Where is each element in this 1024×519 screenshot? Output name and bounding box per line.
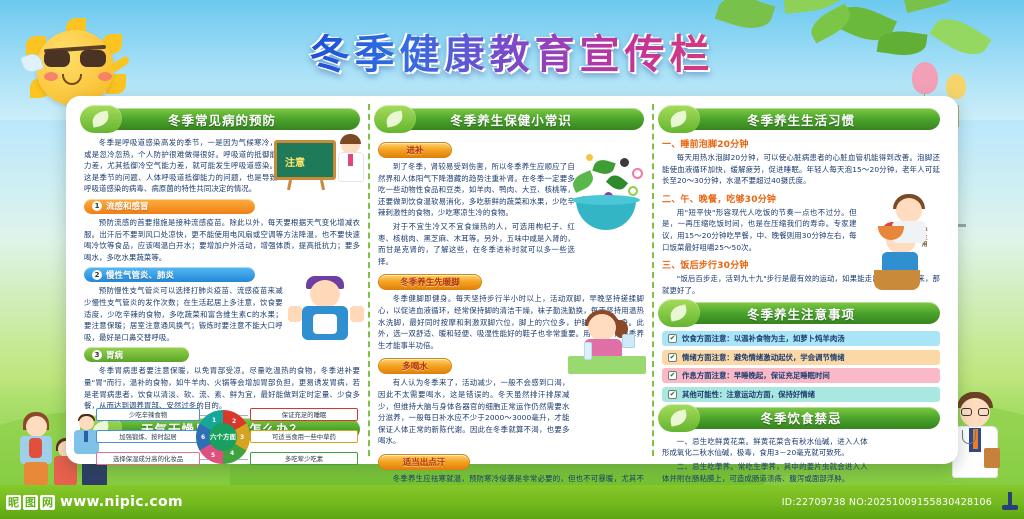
subsection-header-sweat: 适当出点汗 (378, 454, 470, 470)
subsection-text-bronchitis: 预防慢性支气管炎可以选择打肺炎疫苗、流感疫苗来减少慢性支气管炎的发作次数；在生活… (84, 285, 283, 343)
subsection-text-flu: 预防流感的首要措施是接种流感疫苗。除此以外，每天要根据天气变化增减衣服。出汗后不… (84, 217, 360, 263)
drinking-water-girl-illustration (564, 312, 650, 376)
leaf-icon (374, 105, 416, 133)
lung-patient-illustration (286, 276, 366, 348)
content-board: 冬季常见病的预防 注意 冬季是呼吸道感染高发的季节，一是因为气候寒冷，或是忽冷忽… (66, 96, 958, 464)
subsection-header-tonic: 进补 (378, 142, 452, 158)
leaf-icon (658, 105, 700, 133)
diagram-right-item-3: 多吃荤少吃素 (250, 452, 358, 465)
caution-row-diet: ✔ 饮食方面注意：以温补食物为主，如萝卜炖羊肉汤 (662, 331, 940, 346)
leaf-icon (658, 404, 700, 432)
salad-bowl-illustration (564, 152, 648, 238)
section-banner-habits: 冬季养生生活习惯 (662, 108, 940, 130)
watermark-url: www.nipic.com (60, 494, 183, 510)
check-icon[interactable]: ✔ (668, 353, 677, 362)
leaf-icon (658, 299, 700, 327)
tonic-paragraph-2: 对于不宜生冷又不宜食燥热的人，可选用枸杞子、红枣、核桃肉、黑芝麻、木耳等。另外，… (378, 221, 575, 267)
diagram-center-label: 六个方面 (209, 423, 237, 451)
page-title: 冬季健康教育宣传栏 (310, 22, 715, 80)
habit-text-2: 用"短平快"形容现代人吃饭的节奏一点也不过分。但是，一再压缩吃饭时间，也是在压缩… (662, 207, 857, 253)
nipic-logo: 昵 图 网 (6, 495, 55, 510)
column-lifestyle-habits: 冬季养生生活习惯 一、睡前泡脚20分钟 每天用热水泡脚20分钟，可以使心脏病患者… (654, 104, 948, 456)
stethoscope-icon (962, 430, 976, 444)
habit-text-1: 每天用热水泡脚20分钟，可以使心脏病患者的心脏血管机能得到改善。泡脚还能使血液循… (662, 152, 940, 187)
caution-row-other: ✔ 其他可能性：注意运动方面，保持好情绪 (662, 387, 940, 402)
eating-girl-illustration (874, 196, 946, 256)
subsection-header-drink-water: 多喝水 (378, 358, 452, 374)
diagram-right-item-1: 保证充足的睡眠 (250, 408, 358, 421)
glasses-icon (961, 408, 989, 416)
section-banner-1: 冬季常见病的预防 (84, 108, 360, 130)
check-icon[interactable]: ✔ (668, 334, 677, 343)
column-health-tips: 冬季养生保健小常识 进补 到了冬季，肾较易受到伤害，所以冬季养生应顺应了自然界和… (368, 104, 654, 456)
watermark-brand: 昵 图 网 www.nipic.com (6, 494, 183, 510)
section-banner-health-tips: 冬季养生保健小常识 (378, 108, 644, 130)
caution-row-rest: ✔ 作息方面注意：早睡晚起，保证充足睡眠时间 (662, 368, 940, 383)
doctor-blackboard-illustration: 注意 (274, 130, 366, 200)
taboo-item-2: 二、忌生吃荸荠。常吃生荸荠，其中的姜片虫就会进入人体并附在肠粘膜上，可造成肠道溃… (662, 461, 868, 484)
doctor-figure (336, 134, 366, 190)
poster-canvas: 冬季健康教育宣传栏 冬季常见病的预防 注意 冬季是呼吸道感染高发的季节，一是因为… (0, 0, 1024, 519)
leaf-icon (80, 105, 122, 133)
tonic-paragraph-1: 到了冬季，肾较易受到伤害，所以冬季养生应顺应了自然界和人体阳气下降潜藏的趋势注重… (378, 161, 575, 219)
section-banner-cautions: 冬季养生注意事项 (662, 302, 940, 324)
chalkboard: 注意 (274, 140, 336, 180)
taboo-item-1: 一、忌生吃鲜黄花菜。鲜黄花菜含有秋水仙碱，进入人体形成氧化二秋水仙碱，极毒，食用… (662, 436, 868, 459)
watermark-stamp-icon (1002, 492, 1018, 512)
mother-figure (18, 412, 54, 486)
poster-title-wrap: 冬季健康教育宣传栏 (0, 22, 1024, 80)
drink-water-paragraph: 有人认为冬季来了，活动减少，一般不会感到口渴，因此不太需要喝水，这是错误的。冬天… (378, 377, 570, 447)
diagram-left-item-2: 加强锻炼、按时起居 (96, 430, 200, 443)
clipboard-icon (984, 448, 1000, 468)
habit-heading-1: 一、睡前泡脚20分钟 (662, 137, 940, 150)
subsection-header-warm-feet: 冬季养生先暖脚 (378, 274, 482, 290)
subsection-pill-stomach: 3 胃病 (84, 347, 189, 362)
caution-row-mood: ✔ 情绪方面注意：避免情绪激动起伏，学会调节情绪 (662, 350, 940, 365)
watermark-bar: 昵 图 网 www.nipic.com ID:22709738 NO:20251… (0, 485, 1024, 519)
check-icon[interactable]: ✔ (668, 371, 677, 380)
subsection-pill-bronchitis: 2 慢性气管炎、肺炎 (84, 267, 255, 282)
watermark-id: ID:22709738 NO:20251009155830428106 (782, 497, 1018, 508)
subsection-pill-flu: 1 流感和感冒 (84, 199, 255, 214)
six-aspects-diagram: 少吃辛辣食物 加强锻炼、按时起居 选择保湿成分高的化妆品 保证充足的睡眠 可适当… (78, 404, 364, 470)
diagram-left-item-1: 少吃辛辣食物 (96, 408, 200, 421)
diagram-right-item-2: 可适当食用一些中草药 (250, 430, 358, 443)
check-icon[interactable]: ✔ (668, 390, 677, 399)
section-banner-taboos: 冬季饮食禁忌 (662, 407, 940, 429)
chalkboard-text: 注意 (285, 154, 305, 169)
column-common-disease-prevention: 冬季常见病的预防 注意 冬季是呼吸道感染高发的季节，一是因为气候寒冷，或是忽冷忽… (76, 104, 368, 456)
diagram-center-wheel: 2 3 4 5 6 1 六个方面 (196, 410, 250, 464)
intro-paragraph: 冬季是呼吸道感染高发的季节，一是因为气候寒冷，或是忽冷忽热，个人防护很难做得很好… (84, 137, 277, 195)
diagram-left-item-3: 选择保湿成分高的化妆品 (96, 452, 200, 465)
